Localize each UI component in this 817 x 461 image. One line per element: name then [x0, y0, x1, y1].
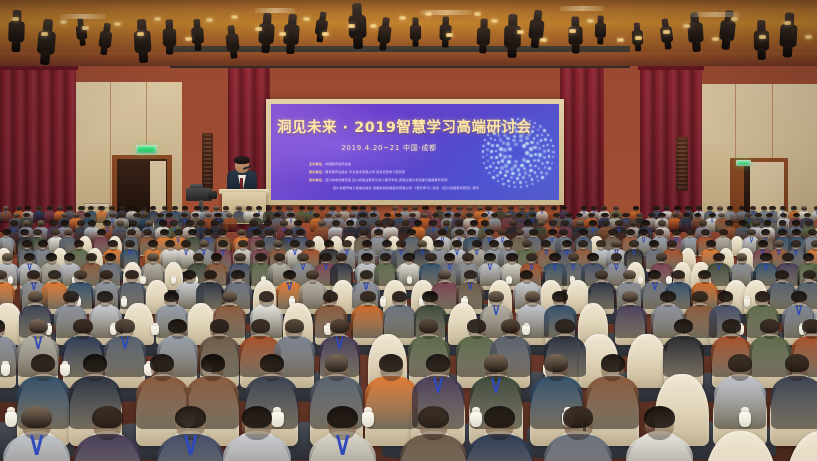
person-hair — [98, 206, 104, 210]
person-hair — [174, 229, 183, 235]
person-hair — [588, 213, 595, 218]
person-hair — [565, 213, 572, 218]
person-hair — [234, 253, 245, 261]
person-hair — [470, 220, 478, 225]
person-hair — [150, 206, 156, 210]
person-hair — [236, 206, 242, 210]
person-hair — [775, 270, 788, 279]
person-hair — [47, 206, 53, 210]
recessed-downlight — [663, 30, 670, 34]
person-hair — [644, 406, 674, 429]
person-hair — [658, 220, 666, 225]
person-torso — [104, 336, 145, 377]
person-hair — [143, 229, 152, 235]
person-hair — [544, 354, 568, 372]
stage-spotlight — [190, 19, 204, 52]
person-torso — [771, 376, 817, 429]
recessed-downlight — [114, 22, 121, 26]
person-hair — [672, 229, 681, 235]
person-hair — [498, 229, 507, 235]
recessed-downlight — [587, 19, 594, 23]
teacup — [380, 298, 386, 306]
teacup — [470, 412, 482, 428]
person-hair — [379, 354, 403, 372]
person-hair — [664, 206, 670, 210]
person-hair — [360, 270, 373, 279]
audience-area — [0, 196, 817, 461]
person-hair — [266, 206, 272, 210]
person-hair — [611, 240, 621, 247]
person-hair — [329, 206, 335, 210]
person-hair — [455, 229, 464, 235]
person-hair — [192, 213, 199, 218]
person-hair — [197, 220, 205, 225]
person-hair — [436, 206, 442, 210]
person-hair — [36, 206, 42, 210]
stage-spotlight — [503, 14, 521, 58]
person-hair — [97, 229, 106, 235]
person-hair — [520, 270, 533, 279]
person-hair — [551, 206, 557, 210]
recessed-downlight — [805, 35, 812, 39]
person-hair — [579, 229, 588, 235]
person-hair — [429, 220, 437, 225]
person-hair — [362, 240, 372, 247]
person-hair — [211, 253, 222, 261]
person-hair — [253, 213, 260, 218]
recessed-downlight — [185, 37, 192, 41]
person-hair — [491, 213, 498, 218]
person-hair — [306, 270, 319, 279]
person-hair — [204, 270, 217, 279]
person-hair — [133, 213, 140, 218]
person-hair — [612, 213, 619, 218]
person-hair — [425, 253, 436, 261]
person-hair — [105, 253, 116, 261]
person-hair — [384, 213, 391, 218]
person-hair — [488, 291, 504, 302]
person-hair — [667, 240, 677, 247]
person-hair — [175, 406, 205, 429]
person-hair — [444, 253, 455, 261]
person-hair — [576, 220, 584, 225]
person-hair — [601, 206, 607, 210]
person-hair — [183, 270, 196, 279]
person-hair — [552, 291, 568, 302]
person-hair — [728, 354, 752, 372]
person-hair — [766, 213, 773, 218]
person-hair — [64, 253, 75, 261]
person-hair — [660, 291, 676, 302]
recessed-downlight — [517, 30, 524, 34]
person-hair — [699, 220, 707, 225]
projection-screen-frame: 洞见未来 · 2019智慧学习高端研讨会 2019.4.20~21 中国·成都 … — [266, 99, 564, 205]
person-hair — [313, 213, 320, 218]
person-hair — [760, 253, 771, 261]
ceiling-light-strip — [60, 14, 106, 19]
person-hair — [636, 213, 643, 218]
person-hair — [324, 240, 334, 247]
person-hair — [623, 270, 636, 279]
person-hair — [164, 291, 180, 302]
person-hair — [630, 220, 638, 225]
person-hair — [320, 253, 331, 261]
screen-glare — [271, 104, 559, 200]
person-hair — [64, 229, 73, 235]
person-hair — [648, 213, 655, 218]
recessed-downlight — [540, 38, 547, 42]
person-hair — [696, 206, 702, 210]
person-hair — [792, 220, 800, 225]
person-hair — [672, 270, 685, 279]
person-hair — [761, 229, 770, 235]
person-hair — [297, 253, 308, 261]
person-hair — [692, 291, 708, 302]
person-hair — [108, 240, 118, 247]
person-hair — [432, 213, 439, 218]
person-hair — [417, 240, 427, 247]
recessed-downlight — [683, 24, 690, 28]
person-hair — [568, 253, 579, 261]
person-hair — [211, 220, 219, 225]
person-hair — [205, 213, 212, 218]
person-hair — [718, 291, 734, 302]
person-hair — [10, 220, 18, 225]
person-hair — [576, 213, 583, 218]
person-hair — [157, 213, 164, 218]
person-hair — [656, 253, 667, 261]
person-hair — [280, 220, 288, 225]
person-hair — [642, 220, 650, 225]
recessed-downlight — [635, 36, 642, 40]
person-hair — [629, 240, 639, 247]
person-hair — [168, 319, 187, 333]
stage-spotlight — [133, 19, 152, 64]
person-hair — [287, 213, 294, 218]
person-hair — [38, 240, 48, 247]
recessed-downlight — [137, 32, 144, 36]
person-hair — [674, 206, 680, 210]
person-hair — [529, 229, 538, 235]
person-hair — [601, 213, 608, 218]
person-hair — [501, 319, 520, 333]
wall-speaker-right — [676, 137, 688, 191]
person-hair — [213, 206, 219, 210]
recessed-downlight — [206, 18, 213, 22]
person-hair — [24, 253, 35, 261]
person-hair — [803, 270, 816, 279]
person-hair — [359, 206, 365, 210]
person-hair — [274, 253, 285, 261]
person-hair — [203, 206, 209, 210]
exit-sign-left — [136, 145, 157, 154]
person-hair — [109, 206, 115, 210]
person-hair — [739, 220, 747, 225]
person-hair — [750, 206, 756, 210]
person-hair — [330, 319, 349, 333]
person-hair — [563, 406, 593, 429]
person-hair — [481, 220, 489, 225]
person-hair — [769, 206, 775, 210]
person-hair — [707, 206, 713, 210]
person-hair — [128, 206, 134, 210]
stage-spotlight — [754, 20, 770, 60]
banquet-chair — [627, 334, 667, 388]
person-hair — [549, 220, 557, 225]
person-hair — [537, 220, 545, 225]
person-hair — [811, 240, 817, 247]
person-hair — [103, 220, 111, 225]
person-hair — [522, 240, 532, 247]
stage-spotlight — [8, 9, 25, 52]
person-hair — [485, 229, 494, 235]
person-hair — [359, 220, 367, 225]
person-hair — [13, 213, 20, 218]
person-torso — [749, 336, 790, 377]
person-hair — [611, 253, 622, 261]
person-hair — [88, 220, 96, 225]
person-hair — [78, 206, 84, 210]
person-hair — [21, 406, 51, 429]
teacup — [1, 364, 11, 376]
person-hair — [779, 220, 787, 225]
person-hair — [683, 213, 690, 218]
recessed-downlight — [348, 24, 355, 28]
person-hair — [252, 229, 261, 235]
person-hair — [201, 354, 225, 372]
stage-spotlight — [258, 13, 276, 54]
person-hair — [803, 253, 814, 261]
person-hair — [182, 206, 188, 210]
person-hair — [118, 213, 125, 218]
person-hair — [286, 206, 292, 210]
person-hair — [162, 206, 168, 210]
person-hair — [109, 213, 116, 218]
person-hair — [97, 291, 113, 302]
stage-spotlight — [163, 20, 177, 55]
person-hair — [260, 354, 284, 372]
person-hair — [519, 206, 525, 210]
person-hair — [622, 291, 638, 302]
person-hair — [204, 229, 213, 235]
person-hair — [725, 220, 733, 225]
person-hair — [444, 213, 451, 218]
person-hair — [214, 213, 221, 218]
person-hair — [553, 213, 560, 218]
person-hair — [242, 406, 272, 429]
person-hair — [382, 240, 392, 247]
person-hair — [526, 253, 537, 261]
person-hair — [92, 406, 122, 429]
teacup — [121, 298, 127, 306]
teacup — [739, 412, 751, 428]
person-hair — [409, 213, 416, 218]
person-hair — [325, 213, 332, 218]
person-hair — [359, 213, 366, 218]
person-hair — [395, 213, 402, 218]
person-torso — [663, 336, 704, 377]
recessed-downlight — [231, 15, 238, 19]
person-hair — [218, 240, 228, 247]
teacup — [522, 325, 530, 335]
person-hair — [419, 319, 438, 333]
person-hair — [77, 220, 85, 225]
person-hair — [283, 270, 296, 279]
person-hair — [472, 240, 482, 247]
stage-spotlight — [74, 17, 87, 45]
person-hair — [23, 220, 31, 225]
person-hair — [506, 253, 517, 261]
person-torso — [351, 305, 384, 338]
person-hair — [555, 319, 574, 333]
person-hair — [755, 291, 771, 302]
person-hair — [83, 354, 107, 372]
person-hair — [672, 213, 679, 218]
person-hair — [626, 229, 635, 235]
person-hair — [747, 229, 756, 235]
person-hair — [284, 229, 293, 235]
person-hair — [341, 206, 347, 210]
person-hair — [412, 206, 418, 210]
person-hair — [351, 206, 357, 210]
person-hair — [125, 240, 135, 247]
person-hair — [160, 229, 169, 235]
recessed-downlight — [399, 16, 406, 20]
person-hair — [37, 220, 45, 225]
recessed-downlight — [446, 33, 453, 37]
person-hair — [466, 206, 472, 210]
person-hair — [780, 206, 786, 210]
person-hair — [210, 319, 229, 333]
wall-speaker-left — [202, 133, 213, 189]
person-hair — [503, 240, 513, 247]
person-hair — [422, 291, 438, 302]
stage-spotlight — [410, 18, 421, 47]
person-hair — [61, 213, 68, 218]
person-hair — [285, 319, 304, 333]
stage-spotlight — [686, 12, 704, 53]
teacup — [362, 412, 374, 428]
recessed-downlight — [322, 32, 329, 36]
person-hair — [658, 213, 665, 218]
person-hair — [633, 206, 639, 210]
person-hair — [402, 206, 408, 210]
person-hair — [674, 319, 693, 333]
person-hair — [719, 229, 728, 235]
person-hair — [581, 206, 587, 210]
stage-spotlight — [568, 16, 583, 53]
person-hair — [548, 229, 557, 235]
person-hair — [181, 240, 191, 247]
person-hair — [615, 220, 623, 225]
person-hair — [578, 240, 588, 247]
person-hair — [127, 229, 136, 235]
person-hair — [727, 206, 733, 210]
person-hair — [16, 206, 22, 210]
person-hair — [525, 291, 541, 302]
teacup — [5, 412, 17, 428]
person-hair — [736, 253, 747, 261]
person-hair — [223, 206, 229, 210]
person-torso — [614, 305, 647, 338]
person-hair — [226, 213, 233, 218]
person-hair — [74, 240, 84, 247]
person-hair — [805, 220, 813, 225]
recessed-downlight — [12, 17, 19, 21]
person-hair — [613, 206, 619, 210]
person-hair — [455, 220, 463, 225]
person-hair — [561, 220, 569, 225]
person-hair — [701, 229, 710, 235]
recessed-downlight — [491, 19, 498, 23]
person-hair — [698, 270, 711, 279]
person-hair — [758, 240, 768, 247]
person-hair — [73, 319, 92, 333]
person-hair — [28, 291, 44, 302]
person-hair — [116, 220, 124, 225]
stage-spotlight — [376, 17, 393, 52]
person-hair — [276, 206, 282, 210]
exit-sign-right — [736, 160, 751, 166]
person-hair — [22, 240, 32, 247]
person-hair — [515, 229, 524, 235]
person-hair — [653, 206, 659, 210]
person-hair — [29, 319, 48, 333]
recessed-downlight — [731, 17, 738, 21]
person-hair — [375, 220, 383, 225]
person-hair — [63, 291, 79, 302]
person-hair — [717, 206, 723, 210]
person-hair — [761, 206, 767, 210]
person-hair — [264, 220, 272, 225]
person-hair — [755, 213, 762, 218]
person-hair — [484, 354, 508, 372]
person-hair — [392, 291, 408, 302]
person-hair — [129, 220, 137, 225]
person-hair — [327, 406, 357, 429]
person-hair — [290, 240, 300, 247]
ceiling-light-strip — [690, 12, 740, 17]
person-hair — [426, 354, 450, 372]
person-hair — [785, 354, 809, 372]
person-hair — [706, 240, 716, 247]
person-hair — [48, 270, 61, 279]
teacup — [151, 325, 159, 335]
person-hair — [608, 229, 617, 235]
person-hair — [259, 291, 275, 302]
stage-spotlight — [224, 25, 240, 59]
person-hair — [335, 213, 342, 218]
person-hair — [466, 213, 473, 218]
person-hair — [529, 206, 535, 210]
stage-spotlight — [97, 22, 113, 55]
ceiling-light-strip — [420, 10, 472, 15]
recessed-downlight — [60, 20, 67, 24]
recessed-downlight — [370, 24, 377, 28]
stage-spotlight — [476, 18, 491, 53]
person-hair — [231, 270, 244, 279]
person-hair — [484, 406, 514, 429]
person-torso — [383, 305, 416, 338]
person-hair — [446, 206, 452, 210]
person-hair — [462, 253, 473, 261]
person-hair — [804, 213, 811, 218]
person-hair — [791, 240, 801, 247]
stage-spotlight — [527, 10, 546, 49]
person-hair — [325, 354, 349, 372]
person-hair — [57, 206, 63, 210]
person-hair — [349, 213, 356, 218]
